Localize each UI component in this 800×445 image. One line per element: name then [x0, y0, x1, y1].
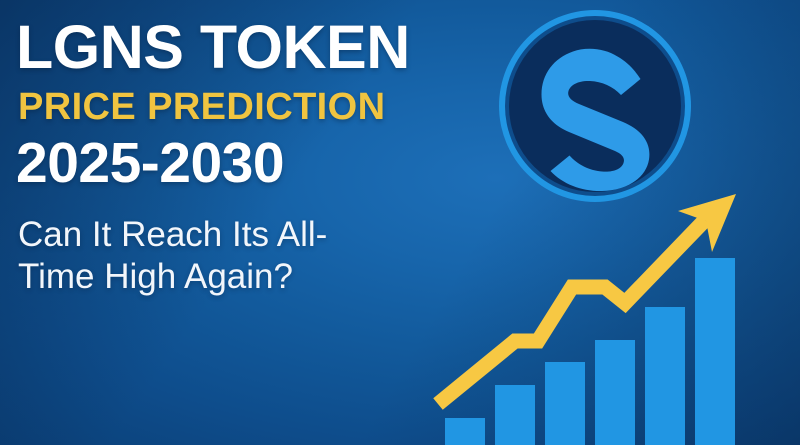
- poster-canvas: LGNS TOKEN PRICE PREDICTION 2025-2030 Ca…: [0, 0, 800, 445]
- tagline: Can It Reach Its All-Time High Again?: [18, 214, 378, 299]
- page-title: LGNS TOKEN: [16, 18, 486, 78]
- chart-bar: [495, 385, 535, 445]
- logo-disc: [509, 20, 681, 192]
- chart-bar: [545, 362, 585, 445]
- subtitle: PRICE PREDICTION: [18, 88, 486, 126]
- chart-bar: [595, 340, 635, 445]
- chart-bar: [695, 258, 735, 445]
- logo-icon: [497, 8, 693, 204]
- logo: [497, 8, 693, 204]
- chart-bar: [445, 418, 485, 445]
- year-range: 2025-2030: [16, 135, 486, 192]
- chart-bar: [645, 307, 685, 445]
- headline-block: LGNS TOKEN PRICE PREDICTION 2025-2030 Ca…: [16, 18, 486, 299]
